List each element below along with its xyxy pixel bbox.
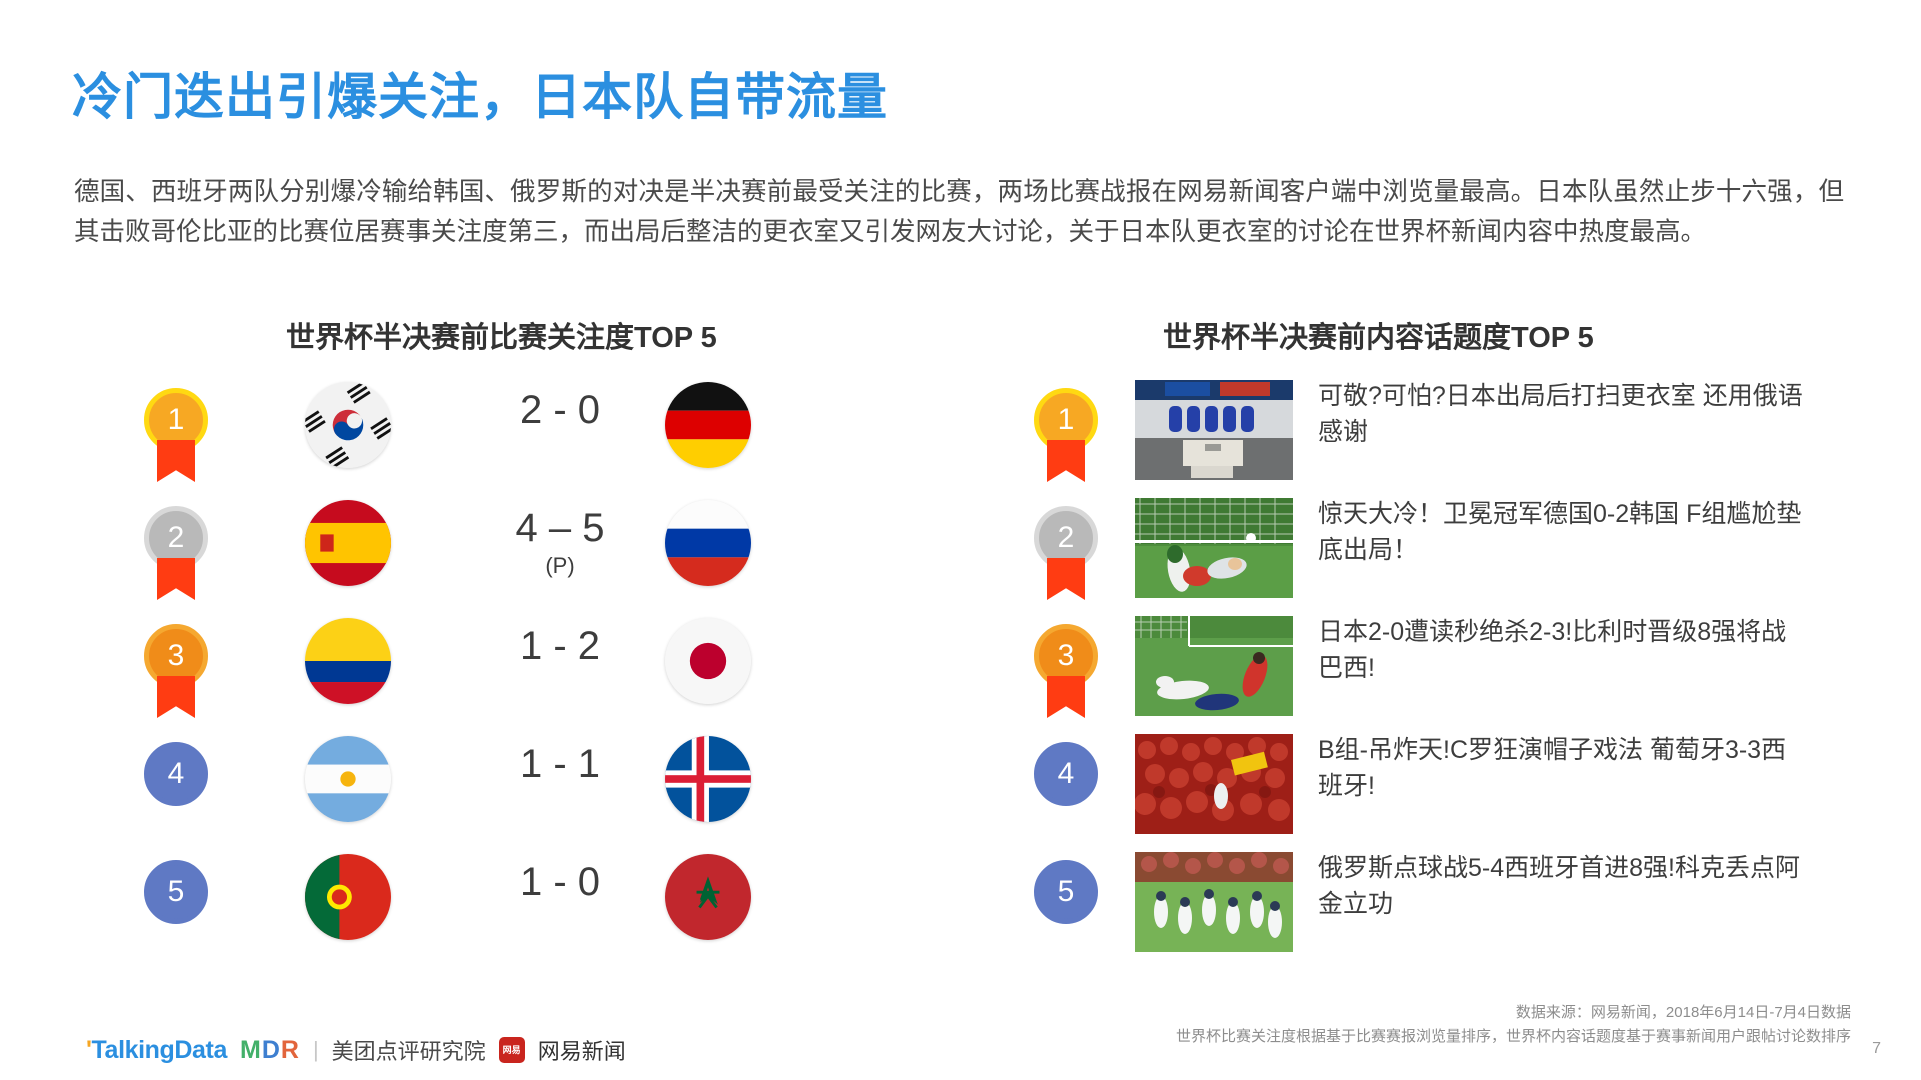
argentina-flag bbox=[305, 736, 391, 822]
news-title: 俄罗斯点球战5-4西班牙首进8强!科克丢点阿金立功 bbox=[1318, 850, 1808, 922]
locker-room-photo bbox=[1135, 380, 1293, 480]
netease-badge-icon: 网易 bbox=[499, 1037, 525, 1063]
source-note: 数据来源：网易新闻，2018年6月14日-7月4日数据 世界杯比赛关注度根据基于… bbox=[1176, 1001, 1851, 1049]
rank-number: 4 bbox=[144, 742, 208, 806]
page-number: 7 bbox=[1872, 1040, 1881, 1058]
rank-medal-5: 5 bbox=[140, 860, 212, 956]
list-item[interactable]: 3 日本2-0遭读秒绝杀2-3!比利时晋级8强 bbox=[1000, 614, 1820, 732]
match-ranking-list: 1 2 bbox=[110, 378, 900, 968]
japan-flag-icon bbox=[665, 618, 751, 704]
meituan-research-logo: 美团点评研究院 bbox=[332, 1034, 486, 1066]
match-score: 2 - 0 bbox=[440, 388, 680, 433]
ribbon-shape bbox=[157, 676, 195, 718]
rank-number: 4 bbox=[1034, 742, 1098, 806]
brand-logo-bar: 'TalkingData MDR | 美团点评研究院 网易 网易新闻 bbox=[86, 1034, 626, 1066]
rank-number: 5 bbox=[144, 860, 208, 924]
netease-news-logo: 网易新闻 bbox=[538, 1034, 626, 1066]
goal-save-photo-icon bbox=[1135, 498, 1293, 598]
ribbon-shape bbox=[1047, 558, 1085, 600]
iceland-flag bbox=[665, 736, 751, 822]
ribbon-shape bbox=[157, 440, 195, 482]
spain-flag bbox=[305, 500, 391, 586]
slide-root: 冷门迭出引爆关注，日本队自带流量 德国、西班牙两队分别爆冷输给韩国、俄罗斯的对决… bbox=[0, 0, 1921, 1080]
source-line-2: 世界杯比赛关注度根据基于比赛赛报浏览量排序，世界杯内容话题度基于赛事新闻用户跟帖… bbox=[1176, 1025, 1851, 1049]
players-on-turf-photo bbox=[1135, 616, 1293, 716]
match-score: 1 - 2 bbox=[440, 624, 680, 669]
rank-medal-4: 4 bbox=[1030, 742, 1102, 838]
rank-medal-1: 1 bbox=[140, 388, 212, 484]
red-crowd-photo bbox=[1135, 734, 1293, 834]
news-title: B组-吊炸天!C罗狂演帽子戏法 葡萄牙3-3西班牙! bbox=[1318, 732, 1808, 804]
page-title: 冷门迭出引爆关注，日本队自带流量 bbox=[72, 57, 888, 129]
list-item[interactable]: 5 bbox=[1000, 850, 1820, 968]
russia-flag bbox=[665, 500, 751, 586]
match-score: 4 – 5 (P) bbox=[440, 506, 680, 579]
rank-medal-3: 3 bbox=[140, 624, 212, 720]
ribbon-shape bbox=[1047, 440, 1085, 482]
list-item[interactable]: 1 bbox=[1000, 378, 1820, 496]
rank-medal-4: 4 bbox=[140, 742, 212, 838]
locker-room-photo-icon bbox=[1135, 380, 1293, 480]
morocco-flag bbox=[665, 854, 751, 940]
news-title: 可敬?可怕?日本出局后打扫更衣室 还用俄语感谢 bbox=[1318, 378, 1808, 450]
table-row[interactable]: 3 1 - 2 bbox=[110, 614, 900, 732]
talkingdata-logo: 'TalkingData bbox=[86, 1036, 227, 1065]
germany-flag-icon bbox=[665, 382, 751, 468]
table-row[interactable]: 2 4 – 5 (P) bbox=[110, 496, 900, 614]
germany-flag bbox=[665, 382, 751, 468]
ribbon-shape bbox=[1047, 676, 1085, 718]
rank-medal-5: 5 bbox=[1030, 860, 1102, 956]
rank-medal-1: 1 bbox=[1030, 388, 1102, 484]
spain-flag-icon bbox=[305, 500, 391, 586]
rank-medal-2: 2 bbox=[140, 506, 212, 602]
table-row[interactable]: 5 1 - 0 bbox=[110, 850, 900, 968]
iceland-flag-icon bbox=[665, 736, 751, 822]
players-on-turf-photo-icon bbox=[1135, 616, 1293, 716]
russia-flag-icon bbox=[665, 500, 751, 586]
left-panel-title: 世界杯半决赛前比赛关注度TOP 5 bbox=[286, 314, 717, 356]
argentina-flag-icon bbox=[305, 736, 391, 822]
goal-save-photo bbox=[1135, 498, 1293, 598]
rank-medal-2: 2 bbox=[1030, 506, 1102, 602]
match-score: 1 - 0 bbox=[440, 860, 680, 905]
mdr-logo: MDR bbox=[240, 1036, 300, 1065]
korea-south-flag bbox=[305, 382, 391, 468]
ribbon-shape bbox=[157, 558, 195, 600]
portugal-flag bbox=[305, 854, 391, 940]
rank-medal-3: 3 bbox=[1030, 624, 1102, 720]
celebration-photo-icon bbox=[1135, 852, 1293, 952]
list-item[interactable]: 4 bbox=[1000, 732, 1820, 850]
celebration-photo bbox=[1135, 852, 1293, 952]
colombia-flag bbox=[305, 618, 391, 704]
news-title: 日本2-0遭读秒绝杀2-3!比利时晋级8强将战巴西! bbox=[1318, 614, 1808, 686]
table-row[interactable]: 4 1 - 1 bbox=[110, 732, 900, 850]
table-row[interactable]: 1 2 bbox=[110, 378, 900, 496]
penalty-note: (P) bbox=[440, 553, 680, 579]
match-score: 1 - 1 bbox=[440, 742, 680, 787]
news-topic-list: 1 bbox=[1000, 378, 1820, 968]
intro-paragraph: 德国、西班牙两队分别爆冷输给韩国、俄罗斯的对决是半决赛前最受关注的比赛，两场比赛… bbox=[74, 172, 1844, 252]
source-line-1: 数据来源：网易新闻，2018年6月14日-7月4日数据 bbox=[1176, 1001, 1851, 1025]
list-item[interactable]: 2 bbox=[1000, 496, 1820, 614]
news-title: 惊天大冷！卫冕冠军德国0-2韩国 F组尴尬垫底出局！ bbox=[1318, 496, 1808, 568]
rank-number: 5 bbox=[1034, 860, 1098, 924]
portugal-flag-icon bbox=[305, 854, 391, 940]
morocco-flag-icon bbox=[665, 854, 751, 940]
logo-divider: | bbox=[313, 1037, 319, 1063]
korea-south-flag-icon bbox=[305, 382, 391, 468]
colombia-flag-icon bbox=[305, 618, 391, 704]
japan-flag bbox=[665, 618, 751, 704]
right-panel-title: 世界杯半决赛前内容话题度TOP 5 bbox=[1163, 314, 1594, 356]
red-crowd-photo-icon bbox=[1135, 734, 1293, 834]
